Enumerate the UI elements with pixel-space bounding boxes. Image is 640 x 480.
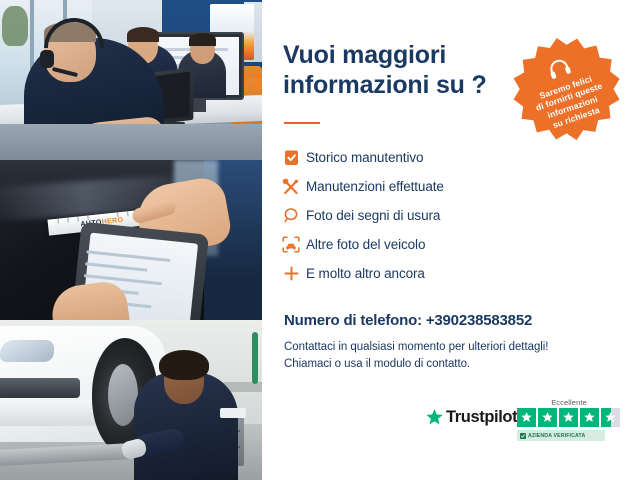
trustpilot-score-block: Eccellente — [517, 398, 625, 441]
clipboard-check-icon — [276, 146, 306, 170]
mechanic-hair — [159, 350, 209, 380]
background-colleague-hair — [189, 33, 216, 46]
headset-earcup — [40, 50, 54, 68]
trustpilot-rating-label: Eccellente — [517, 398, 621, 407]
feature-label: Altre foto del veicolo — [306, 237, 425, 252]
feature-item-foto-segni-usura: Foto dei segni di usura — [276, 201, 576, 230]
verified-check-icon — [520, 433, 526, 439]
feature-item-molto-altro: E molto altro ancora — [276, 259, 576, 288]
trustpilot-star-2 — [538, 408, 557, 427]
feature-item-storico-manutentivo: Storico manutentivo — [276, 143, 576, 172]
accent-divider — [284, 122, 320, 124]
phone-number-line: Numero di telefono: +390238583852 — [284, 312, 532, 329]
verified-company-badge: AZIENDA VERIFICATA — [517, 430, 605, 441]
car-scan-icon — [276, 233, 306, 257]
trustpilot-name: Trustpilot — [446, 408, 517, 427]
request-info-badge: Saremo felici di fornirti queste informa… — [501, 25, 632, 156]
headline-line-2: informazioni su ? — [283, 70, 513, 100]
feature-item-manutenzioni-effettuate: Manutenzioni effettuate — [276, 172, 576, 201]
trustpilot-logo: Trustpilot — [425, 408, 517, 427]
magnifier-icon — [276, 204, 306, 228]
plus-icon — [276, 262, 306, 286]
page-title: Vuoi maggiori informazioni su ? — [283, 40, 513, 100]
second-colleague-hair — [127, 27, 159, 42]
car-headlight — [0, 340, 54, 362]
contact-description: Contattaci in qualsiasi momento per ulte… — [284, 339, 614, 373]
trustpilot-star-icon — [425, 408, 444, 427]
photo-column: AUTOHERO — [0, 0, 262, 480]
trustpilot-stars — [517, 408, 625, 427]
contact-description-line-1: Contattaci in qualsiasi momento per ulte… — [284, 339, 614, 356]
autohero-info-banner: AUTOHERO — [0, 0, 640, 480]
feature-label: E molto altro ancora — [306, 266, 425, 281]
feature-label: Storico manutentivo — [306, 150, 423, 165]
car-grille — [0, 378, 80, 398]
feature-item-altre-foto-veicolo: Altre foto del veicolo — [276, 230, 576, 259]
outdoor-foliage — [2, 6, 28, 46]
verified-company-label: AZIENDA VERIFICATA — [528, 433, 585, 439]
trustpilot-star-1 — [517, 408, 536, 427]
trustpilot-star-3 — [559, 408, 578, 427]
feature-list: Storico manutentivo Manutenzioni effettu… — [276, 143, 576, 288]
feature-label: Manutenzioni effettuate — [306, 179, 444, 194]
mechanic-tire-check-photo — [0, 320, 262, 480]
autohero-inspection-photo: AUTOHERO — [0, 160, 262, 320]
call-center-agent-photo — [0, 0, 262, 160]
headline-line-1: Vuoi maggiori — [283, 41, 446, 69]
tools-icon — [276, 175, 306, 199]
trustpilot-rating: Trustpilot Eccellente — [425, 398, 625, 446]
trustpilot-star-4 — [580, 408, 599, 427]
content-panel: Vuoi maggiori informazioni su ? Saremo f… — [262, 0, 640, 480]
car-bumper — [0, 400, 98, 426]
feature-label: Foto dei segni di usura — [306, 208, 440, 223]
desk-front-shadow — [0, 124, 262, 160]
workshop-tool — [252, 332, 258, 384]
trustpilot-star-5-partial — [601, 408, 620, 427]
uniform-logo — [220, 408, 246, 418]
contact-description-line-2: Chiamaci o usa il modulo di contatto. — [284, 356, 614, 373]
